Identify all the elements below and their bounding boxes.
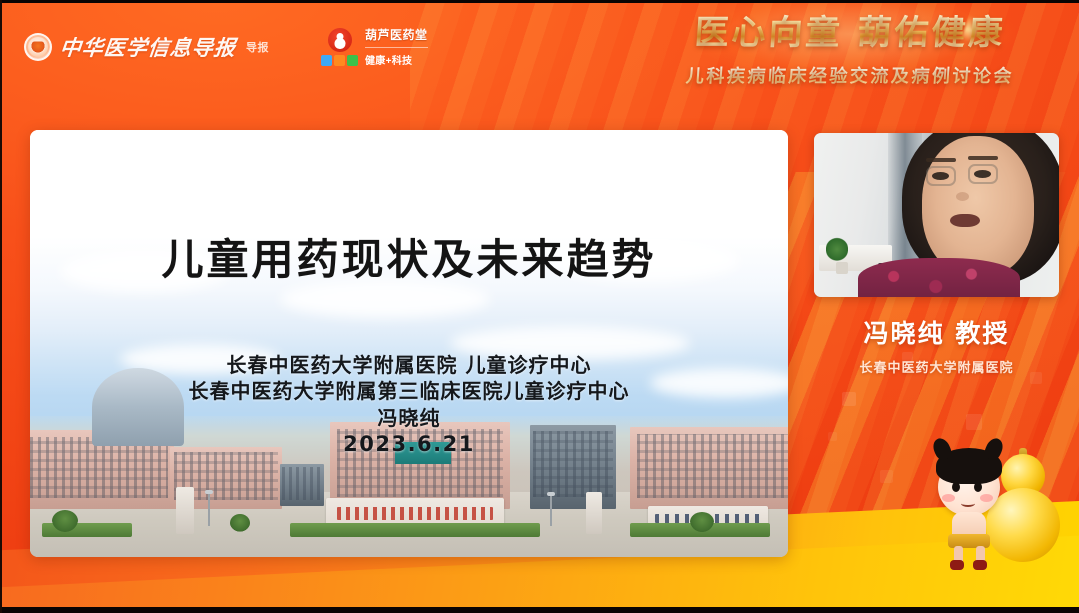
logo-wordmark: 中华医学信息导报 bbox=[58, 32, 237, 62]
slide-subtitle-block: 长春中医药大学附属医院 儿童诊疗中心 长春中医药大学附属第三临床医院儿童诊疗中心… bbox=[30, 352, 788, 459]
campus-building-left-3 bbox=[280, 464, 324, 506]
logo-wordmark-suffix: 导报 bbox=[246, 39, 269, 55]
speaker-name: 冯晓纯 教授 bbox=[814, 314, 1059, 350]
letterbox-bottom bbox=[0, 607, 1079, 613]
presentation-slide[interactable]: 儿童用药现状及未来趋势 长春中医药大学附属医院 儿童诊疗中心 长春中医药大学附属… bbox=[30, 130, 788, 557]
speaker-nose bbox=[956, 192, 969, 201]
logo-chinese-medical-journal: 中华医学信息导报 导报 bbox=[24, 32, 269, 62]
speaker-affiliation: 长春中医药大学附属医院 bbox=[814, 357, 1059, 376]
campus-lamp-1 bbox=[208, 494, 210, 526]
mascot-shoe-right bbox=[973, 560, 987, 570]
logo-chip-row bbox=[321, 55, 358, 66]
logo-divider bbox=[365, 47, 428, 48]
mascot-blush-left bbox=[942, 494, 955, 502]
gourd-circle-icon bbox=[328, 28, 352, 52]
speaker-brow-right bbox=[968, 156, 998, 160]
speaker-face bbox=[922, 136, 1035, 277]
slide-title: 儿童用药现状及未来趋势 bbox=[30, 226, 788, 287]
banner-subtitle: 儿科疾病临床经验交流及病例讨论会 bbox=[644, 62, 1056, 88]
speaker-brow-left bbox=[926, 158, 956, 162]
mascot-eye-right bbox=[974, 482, 982, 492]
slide-line-4: 2023.6.21 bbox=[30, 431, 788, 459]
campus-lawn-center bbox=[290, 523, 540, 537]
campus-gate-pillar-right bbox=[586, 492, 602, 534]
mascot-eye-left bbox=[952, 482, 960, 492]
livestream-frame: 中华医学信息导报 导报 葫芦医药堂 健康+科技 医心向童 葫佑健康 儿科 bbox=[0, 0, 1079, 613]
campus-tree-2 bbox=[230, 514, 250, 532]
logo-hulu-pharmacy: 葫芦医药堂 健康+科技 bbox=[321, 26, 428, 67]
speaker-clothing bbox=[858, 258, 1020, 297]
mascot-blush-right bbox=[980, 494, 993, 502]
campus-gate-pillar-left bbox=[176, 487, 194, 535]
header-logo-row: 中华医学信息导报 导报 葫芦医药堂 健康+科技 bbox=[24, 26, 428, 67]
logo-hulu-text: 葫芦医药堂 健康+科技 bbox=[365, 26, 428, 67]
video-plant-pot bbox=[836, 262, 848, 274]
banner-title: 医心向童 葫佑健康 bbox=[644, 14, 1057, 53]
letterbox-left bbox=[0, 0, 2, 613]
speaker-info: 冯晓纯 教授 长春中医药大学附属医院 bbox=[814, 314, 1059, 376]
slide-line-1: 长春中医药大学附属医院 儿童诊疗中心 bbox=[30, 352, 788, 378]
mascot-shoe-left bbox=[950, 560, 964, 570]
campus-tree-1 bbox=[52, 510, 78, 532]
video-plant bbox=[826, 235, 848, 261]
slide-line-2: 长春中医药大学附属第三临床医院儿童诊疗中心 bbox=[30, 378, 788, 404]
slide-line-3: 冯晓纯 bbox=[30, 405, 788, 431]
campus-tree-3 bbox=[690, 512, 714, 532]
mascot-boy bbox=[926, 442, 1014, 574]
mascot-mouth bbox=[961, 500, 975, 507]
event-banner: 医心向童 葫佑健康 儿科疾病临床经验交流及病例讨论会 bbox=[645, 14, 1055, 88]
letterbox-top bbox=[0, 0, 1079, 3]
speaker-video-feed[interactable] bbox=[814, 133, 1059, 297]
logo-hulu-tagline: 健康+科技 bbox=[365, 52, 428, 67]
logo-hulu-marks bbox=[321, 28, 358, 66]
campus-lamp-2 bbox=[550, 496, 552, 526]
calabash-boy-mascot bbox=[918, 440, 1068, 580]
green-chip-icon bbox=[347, 55, 358, 66]
medical-seal-icon bbox=[24, 33, 52, 61]
orange-chip-icon bbox=[334, 55, 345, 66]
logo-hulu-name: 葫芦医药堂 bbox=[365, 26, 428, 43]
speaker-mouth bbox=[950, 214, 980, 227]
blue-chip-icon bbox=[321, 55, 332, 66]
